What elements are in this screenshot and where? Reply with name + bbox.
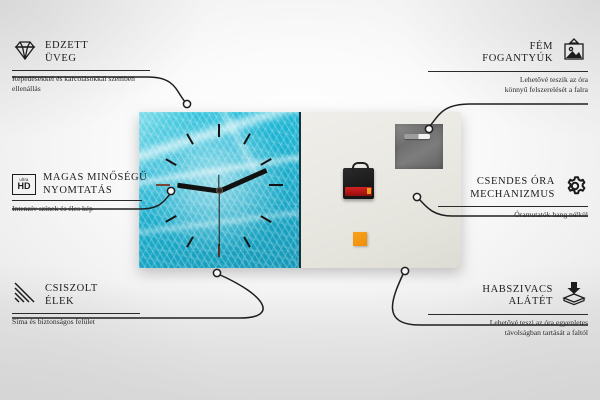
foam-pad-icon bbox=[560, 281, 588, 311]
callout-divider bbox=[12, 70, 150, 71]
connector-dot-habszivacs bbox=[401, 267, 408, 274]
hour-marker bbox=[165, 215, 176, 223]
callout-title-line2: MECHANIZMUS bbox=[470, 189, 555, 202]
callout-header: HABSZIVACS ALÁTÉT bbox=[428, 281, 588, 311]
callout-header: EDZETT ÜVEG bbox=[12, 38, 172, 67]
hour-hand bbox=[177, 183, 219, 193]
wall-hanger-icon bbox=[560, 38, 588, 68]
connector-dot-csiszolt-elek bbox=[213, 269, 220, 276]
callout-title-line2: NYOMTATÁS bbox=[43, 185, 147, 198]
quartz-movement bbox=[343, 168, 374, 199]
second-hand bbox=[218, 191, 219, 247]
callout-divider bbox=[428, 314, 588, 315]
callout-title-line1: HABSZIVACS bbox=[482, 284, 553, 297]
callout-description-line1: Lehetővé teszik az óra bbox=[428, 75, 588, 85]
battery bbox=[345, 187, 372, 196]
minute-hand bbox=[218, 168, 267, 193]
hour-marker bbox=[243, 236, 251, 247]
callout-description: Intenzív színek és éles kép bbox=[12, 204, 182, 214]
product-image bbox=[139, 112, 461, 268]
hour-marker bbox=[218, 124, 220, 137]
callout-divider bbox=[438, 206, 588, 207]
callout-csiszolt-elek: CSISZOLT ÉLEK Sima és biztonságos felüle… bbox=[12, 281, 182, 327]
callout-description-line1: Óramutatók hang nélkül bbox=[438, 210, 588, 220]
callout-title-line2: ALÁTÉT bbox=[482, 296, 553, 309]
callout-description-line2: távolságban tartását a faltól bbox=[428, 328, 588, 338]
callout-fem-fogantyuk: FÉM FOGANTYÚK Lehetővé teszik az óra kön… bbox=[428, 38, 588, 94]
hour-marker bbox=[260, 158, 271, 166]
callout-habszivacs-alatet: HABSZIVACS ALÁTÉT Lehetővé teszi az óra … bbox=[428, 281, 588, 337]
clock-back-panel bbox=[301, 112, 461, 268]
hour-marker bbox=[260, 215, 271, 223]
hour-marker bbox=[186, 236, 194, 247]
connector-dot-edzett-uveg bbox=[183, 100, 190, 107]
callout-csendes-ora-mechanizmus: CSENDES ÓRA MECHANIZMUS Óramutatók hang … bbox=[438, 174, 588, 220]
callout-description-line1: Lehetővé teszi az óra egyenletes bbox=[428, 318, 588, 328]
metal-hanger-plate bbox=[395, 124, 443, 169]
callout-divider bbox=[12, 200, 142, 201]
callout-description: Sima és biztonságos felület bbox=[12, 317, 182, 327]
callout-title-line1: CSENDES ÓRA bbox=[470, 176, 555, 189]
callout-title-line1: CSISZOLT bbox=[45, 283, 98, 296]
diamond-icon bbox=[12, 38, 38, 67]
hour-marker bbox=[165, 158, 176, 166]
callout-title-line2: ÜVEG bbox=[45, 53, 88, 66]
foam-pad bbox=[353, 232, 367, 246]
hour-marker bbox=[243, 133, 251, 144]
callout-divider bbox=[428, 71, 588, 72]
hour-marker bbox=[186, 133, 194, 144]
callout-header: CSISZOLT ÉLEK bbox=[12, 281, 182, 310]
movement-hook bbox=[352, 162, 369, 172]
product-infographic: EDZETT ÜVEG Repedésekkel és karcolásokka… bbox=[0, 0, 600, 400]
hour-marker bbox=[269, 184, 283, 186]
callout-header: FÉM FOGANTYÚK bbox=[428, 38, 588, 68]
callout-magas-minosegu-nyomtatas: ultra HD MAGAS MINŐSÉGŰ NYOMTATÁS Intenz… bbox=[12, 172, 182, 214]
callout-title-line1: FÉM bbox=[482, 41, 553, 54]
callout-header: CSENDES ÓRA MECHANIZMUS bbox=[438, 174, 588, 203]
clock-hub bbox=[216, 187, 223, 194]
polished-edges-icon bbox=[12, 281, 38, 310]
callout-header: ultra HD MAGAS MINŐSÉGŰ NYOMTATÁS bbox=[12, 172, 182, 197]
callout-divider bbox=[12, 313, 140, 314]
callout-edzett-uveg: EDZETT ÜVEG Repedésekkel és karcolásokka… bbox=[12, 38, 172, 93]
ultra-hd-icon: ultra HD bbox=[12, 174, 36, 195]
callout-title-line2: FOGANTYÚK bbox=[482, 53, 553, 66]
callout-title-line1: MAGAS MINŐSÉGŰ bbox=[43, 172, 147, 185]
gear-icon bbox=[562, 174, 588, 203]
callout-title-line2: ÉLEK bbox=[45, 296, 98, 309]
callout-description: Repedésekkel és karcolásokkal szemben el… bbox=[12, 74, 140, 93]
callout-title-line1: EDZETT bbox=[45, 40, 88, 53]
callout-description-line2: könnyű felszerelését a falra bbox=[428, 85, 588, 95]
ultra-hd-icon-main: HD bbox=[18, 182, 31, 191]
